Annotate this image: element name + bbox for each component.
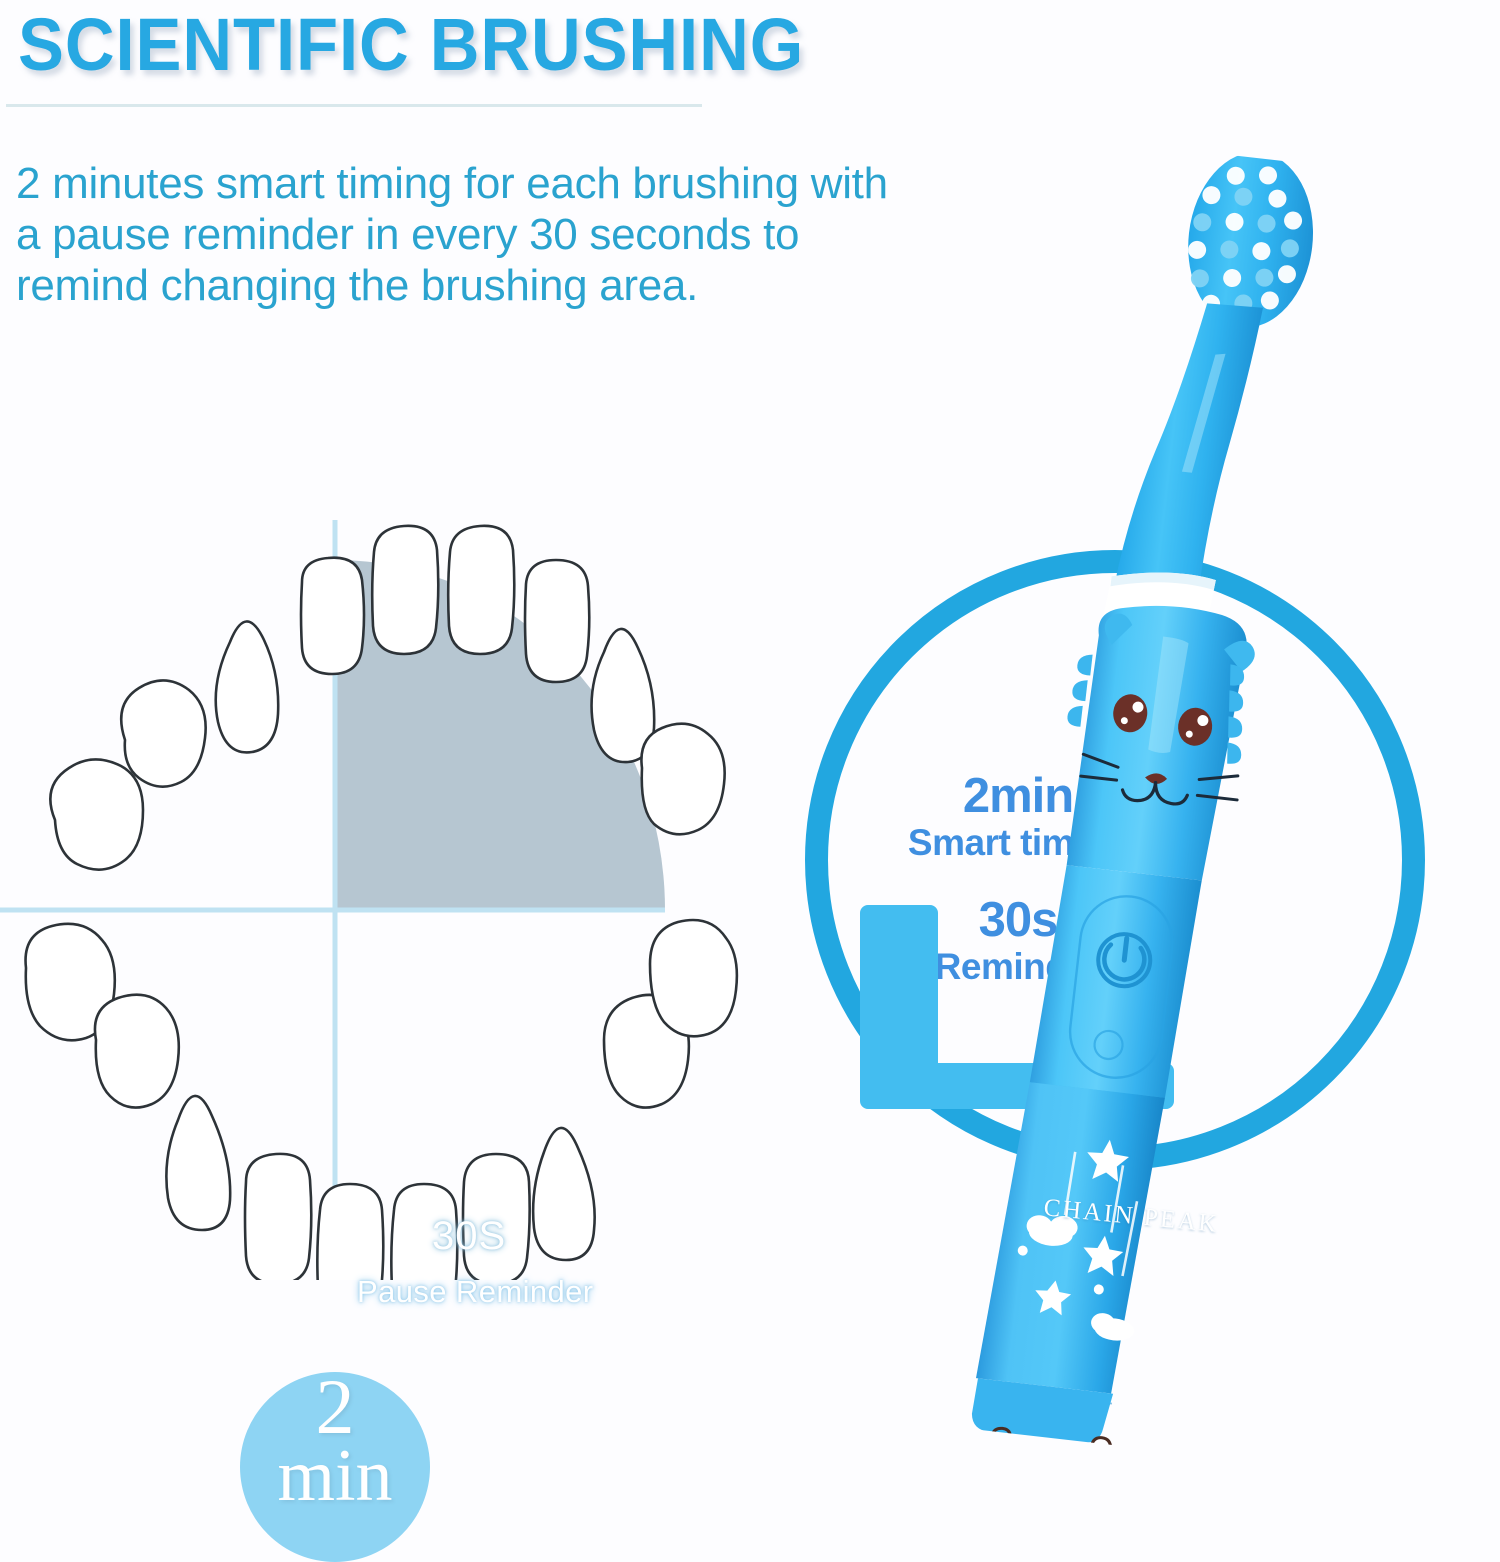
pause-quadrant-caption: Pause Reminder (357, 1274, 594, 1310)
two-minute-badge: 2 min (240, 1372, 430, 1562)
handle-mid (1030, 864, 1202, 1099)
toothbrush-illustration (897, 134, 1461, 1468)
brush-neck (1115, 295, 1263, 596)
teeth-diagram: 30S Pause Reminder 2 min (0, 520, 740, 1280)
cat-face-icon (982, 1466, 1108, 1467)
toothbrush: CHAIN PEAK (897, 134, 1461, 1468)
page-title: SCIENTIFIC BRUSHING (18, 2, 804, 87)
header: SCIENTIFIC BRUSHING (0, 0, 1500, 130)
badge-unit: min (240, 1434, 430, 1519)
title-divider (6, 104, 702, 107)
product-panel: 2min Smart timing 30s Reminder (760, 150, 1500, 1445)
lower-arch-teeth (26, 920, 737, 1280)
arrow-right-icon (1015, 1449, 1078, 1468)
pause-quadrant-time-label: 30S (432, 1214, 506, 1259)
teeth-arch-illustration (0, 520, 740, 1280)
